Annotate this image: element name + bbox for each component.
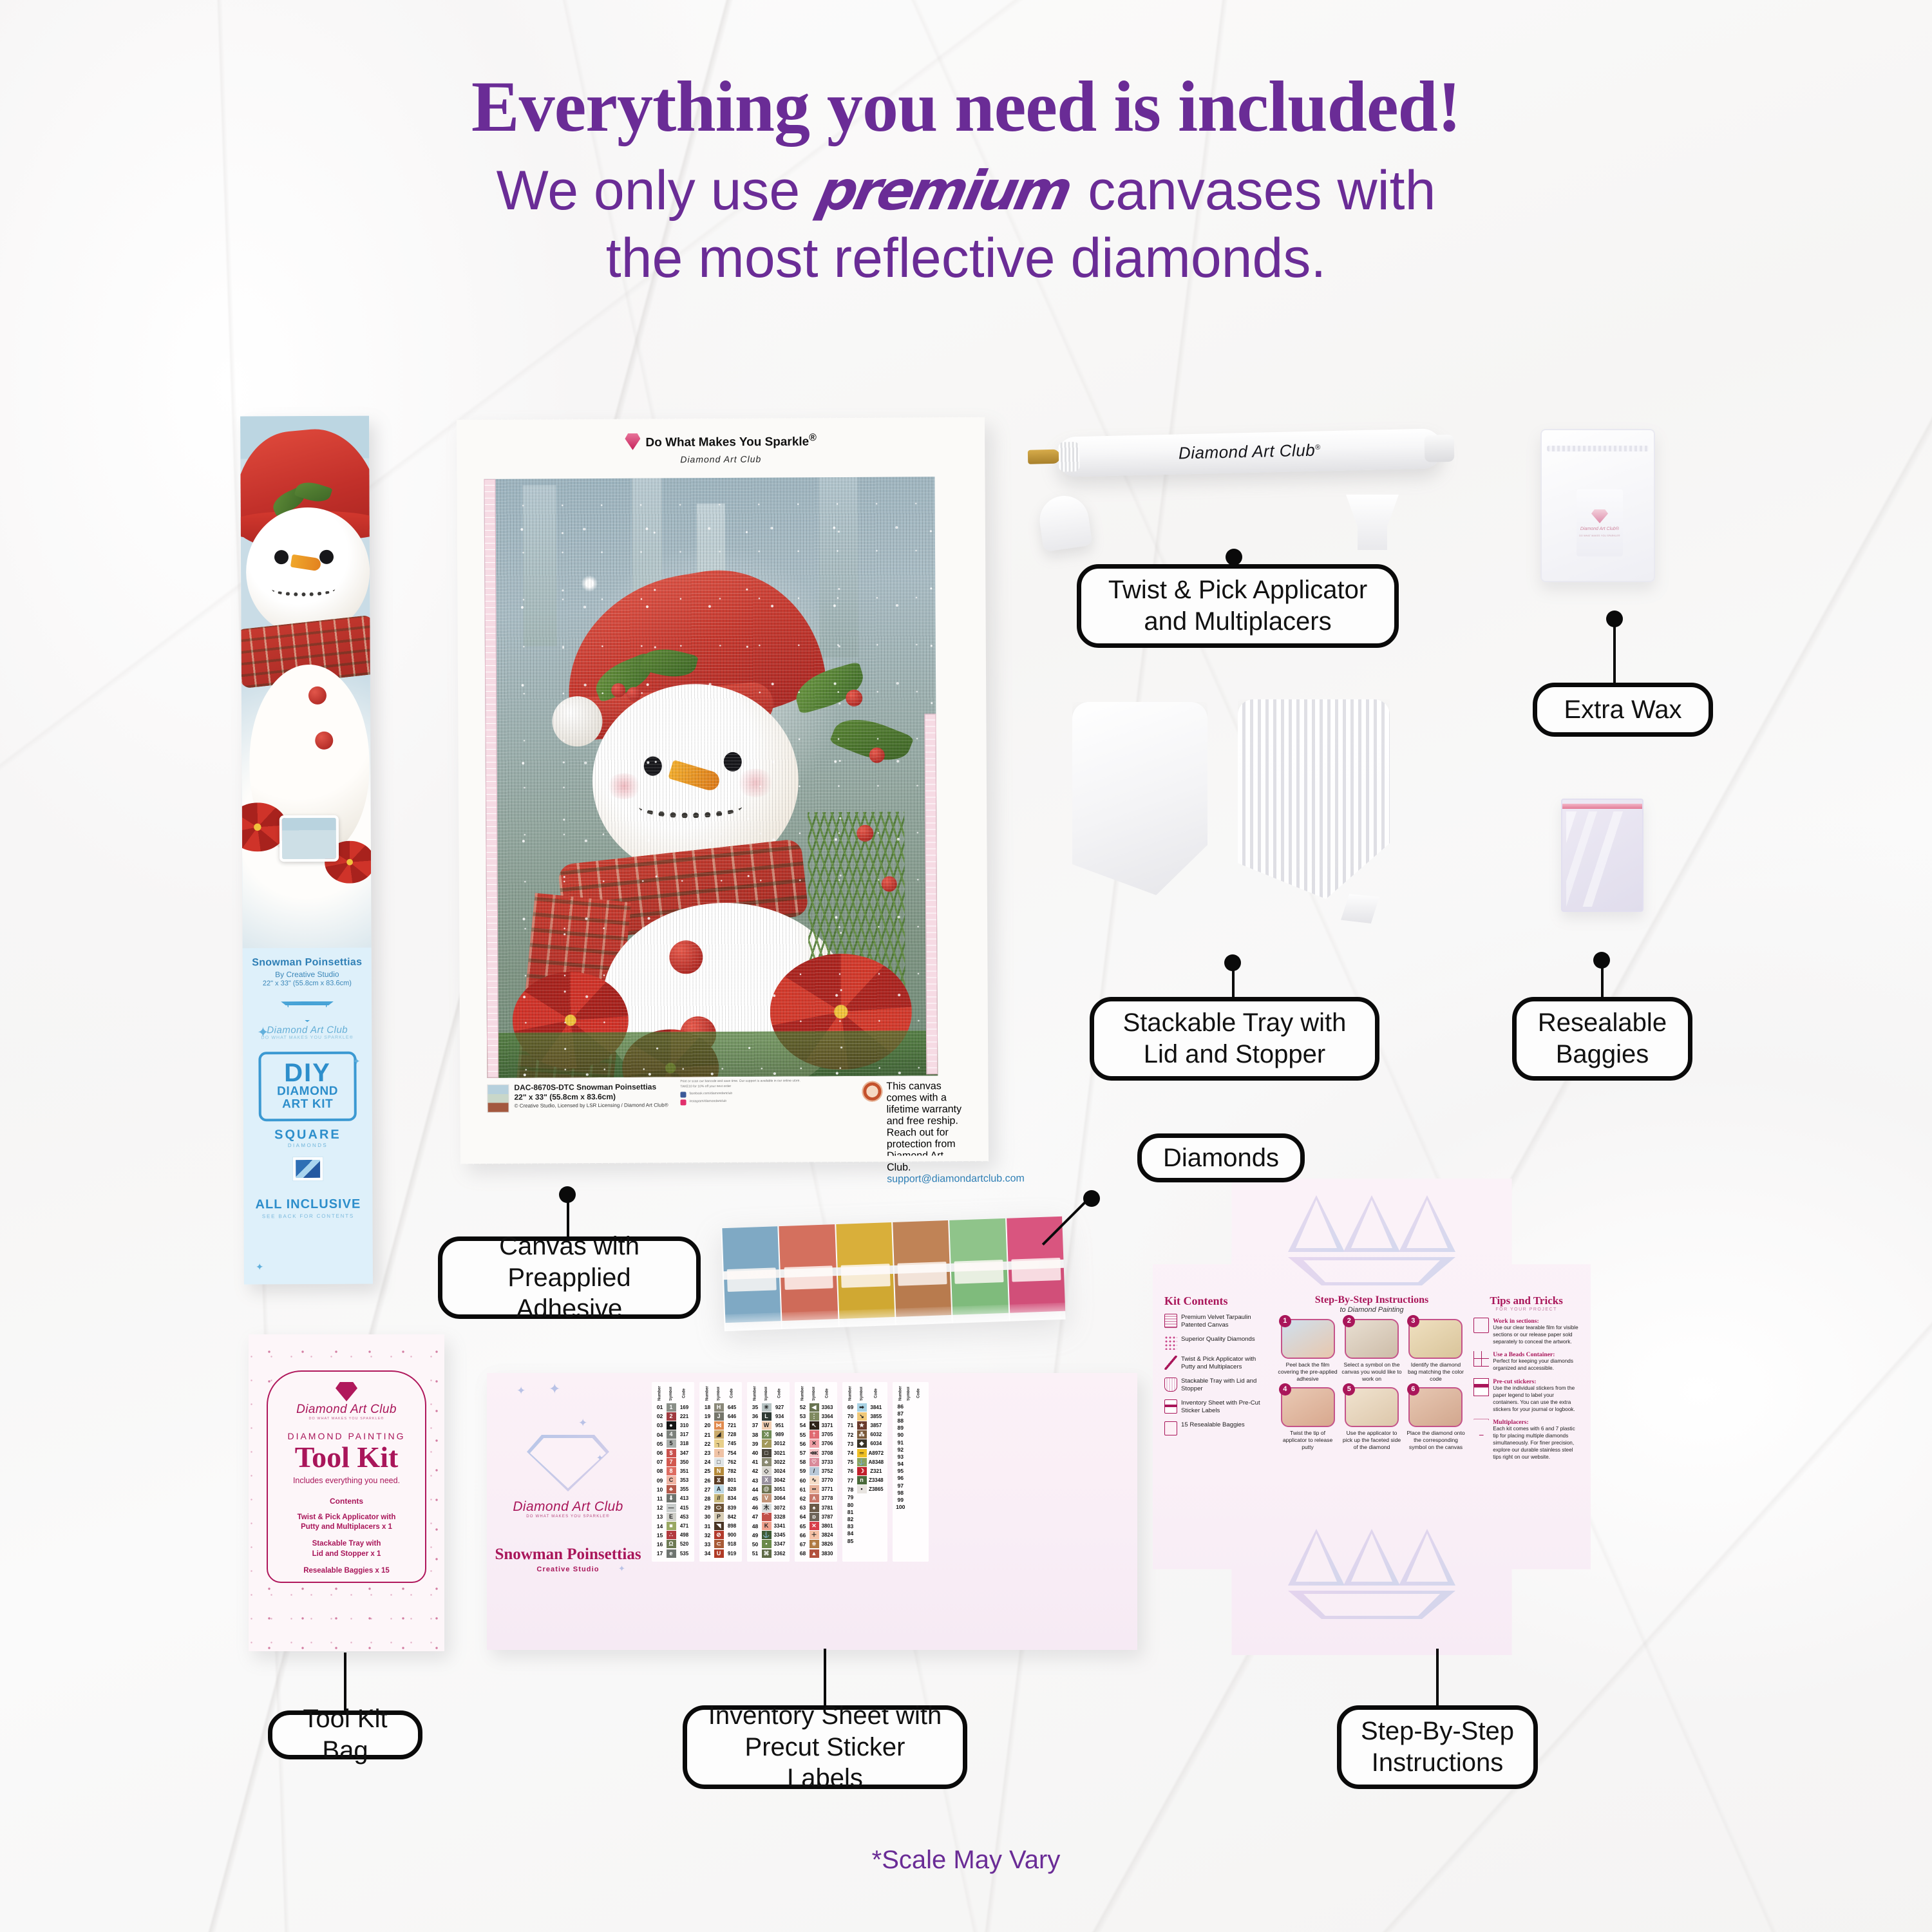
inventory-number: 67: [797, 1540, 808, 1549]
inventory-row: 39✓3012: [750, 1439, 787, 1448]
inventory-row: 31◥898: [702, 1521, 739, 1530]
inventory-number: 60: [797, 1476, 808, 1485]
callout-stackable-tray[interactable]: Stackable Tray with Lid and Stopper: [1090, 997, 1379, 1081]
inventory-col-header: Number: [702, 1385, 713, 1403]
inventory-code: 3826: [820, 1540, 835, 1549]
inventory-symbol: 4: [665, 1430, 677, 1439]
inventory-row: 84: [845, 1530, 885, 1537]
inventory-code: 645: [724, 1403, 739, 1412]
inventory-number: 20: [702, 1421, 713, 1430]
inventory-row: 81: [845, 1508, 885, 1515]
inventory-code: 898: [724, 1521, 739, 1530]
inventory-code: Z3348: [867, 1476, 885, 1485]
inventory-code: [911, 1446, 926, 1453]
baggie-label: [784, 1265, 833, 1290]
multiplacer-icon: [1473, 1419, 1489, 1435]
inventory-symbol: [856, 1501, 867, 1508]
inventory-code: 355: [677, 1485, 692, 1494]
inventory-symbol: ┐: [713, 1439, 724, 1448]
inventory-title: Snowman Poinsettias: [487, 1546, 649, 1564]
callout-dot: [1593, 952, 1610, 969]
inventory-symbol: Ω: [665, 1540, 677, 1549]
inventory-code: 498: [677, 1531, 692, 1540]
inventory-symbol: ✕: [808, 1439, 820, 1448]
sparkle-icon: ✦: [578, 1417, 587, 1430]
see-back-label: SEE BACK FOR CONTENTS: [243, 1213, 372, 1219]
inventory-number: 76: [845, 1466, 856, 1475]
canvas-size: 22" x 33" (55.8cm x 83.6cm): [514, 1092, 668, 1101]
inventory-code: [911, 1417, 926, 1424]
sparkle-icon: ✦: [353, 1056, 361, 1067]
inventory-symbol: [906, 1482, 911, 1489]
inventory-symbol: [856, 1523, 867, 1530]
inventory-number: 61: [797, 1485, 808, 1494]
wax-brand: Diamond Art Club®: [1580, 527, 1619, 531]
instruction-step: 4Twist the tip of applicator to release …: [1278, 1387, 1338, 1452]
baggie-icon: [1164, 1421, 1177, 1435]
inventory-row: 70↘3855: [845, 1412, 885, 1421]
inventory-symbol: ✕: [808, 1521, 820, 1530]
triangle-icon: [1288, 1195, 1345, 1252]
diamond-fill: [779, 1224, 837, 1269]
inventory-row: 21◢728: [702, 1430, 739, 1439]
inventory-symbol: [906, 1461, 911, 1468]
inventory-row: 68▲3830: [797, 1549, 835, 1558]
inventory-symbol: ⋘: [808, 1448, 820, 1457]
canvas-brand: Diamond Art Club: [457, 453, 985, 466]
triangle-icon: [1343, 1195, 1400, 1252]
instruction-step: 5Use the applicator to pick up the facet…: [1341, 1387, 1401, 1452]
inventory-number: 62: [797, 1494, 808, 1503]
inventory-symbol: V: [761, 1494, 772, 1503]
inventory-row: 20⋈721: [702, 1421, 739, 1430]
tip-title: Pre-cut stickers:: [1493, 1378, 1579, 1385]
inventory-number: 33: [702, 1540, 713, 1549]
inventory-symbol: 1: [665, 1403, 677, 1412]
inventory-code: 900: [724, 1531, 739, 1540]
inventory-number: 22: [702, 1439, 713, 1448]
facebook-icon: [680, 1092, 686, 1097]
canvas-footer: DAC-8670S-DTC Snowman Poinsettias 22" x …: [487, 1081, 963, 1126]
inventory-code: 918: [724, 1540, 739, 1549]
kit-content-text: Twist & Pick Applicator with Putty and M…: [1181, 1356, 1270, 1372]
inventory-row: 40□3021: [750, 1448, 787, 1457]
diamond-fill: [1007, 1217, 1064, 1262]
inventory-row: 86: [895, 1403, 926, 1410]
inventory-code: 3705: [820, 1430, 835, 1439]
tip-title: Work in sections:: [1493, 1318, 1579, 1325]
callout-resealable-baggies[interactable]: Resealable Baggies: [1512, 997, 1692, 1081]
inventory-row: 36L934: [750, 1412, 787, 1421]
inventory-symbol: ⧺: [808, 1540, 820, 1549]
step-caption: Place the diamond onto the corresponding…: [1406, 1430, 1466, 1452]
inventory-number: 04: [654, 1430, 665, 1439]
inventory-number: 35: [750, 1403, 761, 1412]
step-number-badge: 3: [1407, 1315, 1419, 1327]
inventory-number: 23: [702, 1448, 713, 1457]
inventory-brand: Diamond Art Club: [487, 1499, 649, 1515]
toolkit-brand: Diamond Art Club: [268, 1403, 425, 1417]
inventory-number: 38: [750, 1430, 761, 1439]
inventory-code: 3022: [772, 1457, 787, 1466]
toolkit-title: Tool Kit: [268, 1443, 425, 1472]
callout-canvas[interactable]: Canvas with Preapplied Adhesive: [438, 1236, 701, 1319]
inventory-number: 10: [654, 1485, 665, 1494]
inventory-row: 83: [845, 1523, 885, 1530]
callout-dot: [1226, 549, 1242, 565]
canvas-icon: [1164, 1314, 1177, 1328]
inventory-number: 16: [654, 1540, 665, 1549]
inventory-symbol: ɒ: [808, 1512, 820, 1521]
inventory-number: 91: [895, 1439, 906, 1446]
inventory-code: 828: [724, 1485, 739, 1494]
inventory-row: 22┐745: [702, 1439, 739, 1448]
inventory-row: 62∧3778: [797, 1494, 835, 1503]
inventory-symbol: A: [713, 1485, 724, 1494]
inventory-row: 48K3341: [750, 1521, 787, 1530]
tip-body: Each kit comes with 6 and 7 plastic tip …: [1493, 1426, 1579, 1461]
inventory-row: 96: [895, 1475, 926, 1482]
inventory-col-header: Number: [654, 1385, 665, 1403]
inventory-row: 100: [895, 1504, 926, 1511]
inventory-number: 89: [895, 1425, 906, 1432]
inventory-row: 59/3752: [797, 1466, 835, 1475]
inventory-code: 762: [724, 1457, 739, 1466]
inventory-number: 100: [895, 1504, 906, 1511]
inventory-row: 34U919: [702, 1549, 739, 1558]
inventory-code: 3328: [772, 1512, 787, 1521]
callout-instructions[interactable]: Step-By-Step Instructions: [1337, 1705, 1538, 1789]
inventory-code: A8972: [867, 1448, 885, 1457]
inventory-row: 52◀3363: [797, 1403, 835, 1412]
inventory-number: 11: [654, 1494, 665, 1503]
inventory-row: 17e535: [654, 1549, 692, 1558]
inventory-number: 88: [895, 1417, 906, 1424]
inventory-row: 74═A8972: [845, 1448, 885, 1457]
instagram-icon: [681, 1099, 687, 1105]
applicator-collar: [1059, 442, 1080, 472]
inventory-number: 57: [797, 1448, 808, 1457]
callout-diamonds[interactable]: Diamonds: [1137, 1133, 1305, 1182]
inventory-symbol: e: [665, 1549, 677, 1558]
callout-leader: [1436, 1649, 1439, 1707]
inventory-code: 310: [677, 1421, 692, 1430]
box-product-title: Snowman Poinsettias: [243, 957, 372, 969]
inventory-number: 99: [895, 1496, 906, 1503]
baggie-label: [1011, 1258, 1061, 1282]
step-number-badge: 6: [1407, 1383, 1419, 1396]
inventory-code: 3841: [867, 1403, 885, 1412]
inventory-row: 99: [895, 1496, 926, 1503]
inventory-column: NumberSymbolCode35✳92736L93437W95138⤨989…: [747, 1382, 790, 1562]
inventory-code: 951: [772, 1421, 787, 1430]
inventory-symbol: ↘: [856, 1412, 867, 1421]
inventory-symbol: E: [665, 1512, 677, 1521]
inventory-code: 3778: [820, 1494, 835, 1503]
inventory-symbol: ♣: [761, 1457, 772, 1466]
inventory-code: 754: [724, 1448, 739, 1457]
toolkit-subtitle: Includes everything you need.: [268, 1476, 425, 1485]
callout-inventory-sheet[interactable]: Inventory Sheet with Precut Sticker Labe…: [683, 1705, 967, 1789]
box-artist: By Creative Studio: [243, 970, 372, 980]
inventory-symbol: ◥: [713, 1521, 724, 1530]
snowman-button: [315, 732, 333, 750]
inventory-code: 353: [677, 1476, 692, 1485]
inventory-row: 42◇3024: [750, 1466, 787, 1475]
header-block: Everything you need is included! We only…: [0, 71, 1932, 292]
tip-row: Work in sections: Use our clear tearable…: [1473, 1318, 1579, 1345]
inventory-row: 75⚓A8348: [845, 1457, 885, 1466]
inventory-code: 350: [677, 1457, 692, 1466]
canvas-footer-thumbnail: [487, 1084, 509, 1113]
inventory-col-header: Symbol: [808, 1385, 820, 1403]
step-caption: Peel back the film covering the pre-appl…: [1278, 1361, 1338, 1383]
inventory-column: NumberSymbolCode52◀336353⋮336454↖337155†…: [795, 1382, 837, 1562]
inventory-number: 97: [895, 1482, 906, 1489]
inventory-row: 79: [845, 1494, 885, 1501]
inventory-symbol: ⬭: [713, 1503, 724, 1512]
inventory-code: 745: [724, 1439, 739, 1448]
inventory-row: 23↑754: [702, 1448, 739, 1457]
applicator-brand: Diamond Art Club: [1179, 440, 1316, 463]
inventory-number: 51: [750, 1549, 761, 1558]
inventory-symbol: ⌘: [761, 1549, 772, 1558]
inventory-number: 59: [797, 1466, 808, 1475]
inventory-sheet: ✦ ✦ ✦ Diamond Art Club DO WHAT MAKES YOU…: [487, 1373, 1137, 1650]
baggie-plastic-sheen: [1566, 811, 1638, 907]
inventory-row: 49⚓3345: [750, 1531, 787, 1540]
kit-content-text: Inventory Sheet with Pre-Cut Sticker Lab…: [1181, 1399, 1270, 1416]
inventory-code: 3347: [772, 1540, 787, 1549]
inventory-row: 25N782: [702, 1466, 739, 1475]
inventory-row: 044317: [654, 1430, 692, 1439]
sections-icon: [1473, 1318, 1489, 1333]
inventory-code: [867, 1530, 885, 1537]
inventory-code: 347: [677, 1448, 692, 1457]
inventory-code: 834: [724, 1494, 739, 1503]
inventory-number: 96: [895, 1475, 906, 1482]
tip-body: Perfect for keeping your diamonds organi…: [1493, 1358, 1579, 1372]
canvas-sku: DAC-8670S-DTC Snowman Poinsettias: [514, 1082, 668, 1092]
kit-content-row: Premium Velvet Tarpaulin Patented Canvas: [1164, 1314, 1270, 1330]
resealable-baggie: [1561, 799, 1643, 912]
callout-dot: [1083, 1190, 1100, 1207]
diamond-watermark-icon: [527, 1435, 609, 1492]
all-inclusive-label: ALL INCLUSIVE: [243, 1197, 372, 1212]
inventory-symbol: C: [665, 1476, 677, 1485]
inventory-row: 61••3771: [797, 1485, 835, 1494]
toolkit-content-item: Resealable Baggies x 15: [268, 1566, 425, 1576]
steps-column: Step-By-Step Instructions to Diamond Pai…: [1278, 1294, 1466, 1461]
inventory-row: 41♣3022: [750, 1457, 787, 1466]
inventory-symbol: H: [713, 1403, 724, 1412]
inventory-row: 33⊂918: [702, 1540, 739, 1549]
toolkit-contents-heading: Contents: [268, 1497, 425, 1506]
diamond-shape-sub: DIAMONDS: [243, 1142, 372, 1148]
inventory-number: 94: [895, 1461, 906, 1468]
inventory-code: 3072: [772, 1503, 787, 1512]
inventory-row: 55†3705: [797, 1430, 835, 1439]
inventory-symbol: ◇: [761, 1466, 772, 1475]
inventory-number: 54: [797, 1421, 808, 1430]
inventory-code: 728: [724, 1430, 739, 1439]
inventory-symbol: ♡: [808, 1457, 820, 1466]
diamond-logo-icon: [1591, 509, 1608, 524]
inventory-row: 76☽Z321: [845, 1466, 885, 1475]
inventory-code: 989: [772, 1430, 787, 1439]
canvas-footer-promo: TAKE10 for 10% off your next order: [680, 1084, 841, 1090]
triangle-icon: [1343, 1529, 1400, 1586]
step-caption: Identify the diamond bag matching the co…: [1406, 1361, 1466, 1383]
toolkit-brand-tagline: DO WHAT MAKES YOU SPARKLE®: [268, 1417, 425, 1421]
sparkle-icon: ✦: [596, 1453, 603, 1463]
inventory-number: 79: [845, 1494, 856, 1501]
inventory-row: 57⋘3708: [797, 1448, 835, 1457]
inventory-row: 28//834: [702, 1494, 739, 1503]
inventory-symbol: □: [713, 1457, 724, 1466]
inventory-code: [911, 1403, 926, 1410]
inventory-row: 13E453: [654, 1512, 692, 1521]
inventory-number: 03: [654, 1421, 665, 1430]
inventory-code: 3042: [772, 1476, 787, 1485]
inventory-symbol: ♠: [808, 1503, 820, 1512]
inventory-number: 02: [654, 1412, 665, 1421]
inventory-code: 839: [724, 1503, 739, 1512]
inventory-col-header: Number: [895, 1385, 906, 1403]
diamond-fill: [836, 1222, 893, 1267]
inventory-symbol: [906, 1446, 911, 1453]
inventory-row: 32⊘900: [702, 1531, 739, 1540]
inventory-number: 36: [750, 1412, 761, 1421]
inventory-row: 47⏠3328: [750, 1512, 787, 1521]
inventory-row: 35✳927: [750, 1403, 787, 1412]
inventory-row: 90: [895, 1432, 926, 1439]
inventory-symbol: ⚓: [856, 1457, 867, 1466]
inventory-code: 3064: [772, 1494, 787, 1503]
inventory-symbol: ↖: [808, 1421, 820, 1430]
inventory-number: 56: [797, 1439, 808, 1448]
inventory-symbol: ◢: [713, 1430, 724, 1439]
inventory-symbol: U: [713, 1549, 724, 1558]
tips-heading: Tips and Tricks: [1473, 1294, 1579, 1307]
inventory-column: NumberSymbolCode18H64519J64620⋈72121◢728…: [699, 1382, 742, 1562]
tips-column: Tips and Tricks FOR YOUR PROJECT Work in…: [1473, 1294, 1579, 1461]
steps-heading: Step-By-Step Instructions: [1278, 1294, 1466, 1306]
inventory-code: [911, 1461, 926, 1468]
inventory-number: 05: [654, 1439, 665, 1448]
canvas-legend-strip-right: [924, 714, 938, 1074]
steps-header: Step-By-Step Instructions to Diamond Pai…: [1278, 1294, 1466, 1314]
inventory-symbol: X: [761, 1476, 772, 1485]
subtitle-premium-script: premium: [808, 158, 1079, 223]
inventory-left-panel: ✦ ✦ ✦ Diamond Art Club DO WHAT MAKES YOU…: [487, 1373, 649, 1650]
inventory-number: 92: [895, 1446, 906, 1453]
step-number-badge: 5: [1343, 1383, 1355, 1396]
inventory-symbol: ☽: [856, 1466, 867, 1475]
inventory-number: 55: [797, 1430, 808, 1439]
inventory-code: 3733: [820, 1457, 835, 1466]
inventory-symbol: [856, 1515, 867, 1522]
inventory-code: [911, 1475, 926, 1482]
inventory-symbol: ♣: [665, 1485, 677, 1494]
inventory-number: 66: [797, 1531, 808, 1540]
inventory-row: 95: [895, 1468, 926, 1475]
inventory-symbol: □: [761, 1448, 772, 1457]
diamond-logo-icon: [625, 433, 640, 450]
baggie-zipper: [1562, 804, 1642, 809]
inventory-col-header: Code: [867, 1385, 885, 1403]
tips-subheading: FOR YOUR PROJECT: [1473, 1307, 1579, 1312]
inventory-row: 38⤨989: [750, 1430, 787, 1439]
inventory-code: 3051: [772, 1485, 787, 1494]
inventory-number: 65: [797, 1521, 808, 1530]
tip-row: Multiplacers: Each kit comes with 6 and …: [1473, 1419, 1579, 1461]
callout-leader: [1613, 618, 1616, 684]
inventory-code: 413: [677, 1494, 692, 1503]
inventory-symbol: N: [713, 1466, 724, 1475]
inventory-number: 84: [845, 1530, 856, 1537]
diamond-fill: [722, 1226, 779, 1271]
inventory-row: 055318: [654, 1439, 692, 1448]
inventory-row: 87: [895, 1410, 926, 1417]
inventory-number: 48: [750, 1521, 761, 1530]
callout-tool-kit-bag[interactable]: Tool Kit Bag: [268, 1710, 422, 1759]
canvas-warranty: This canvas comes with a lifetime warran…: [886, 1081, 964, 1174]
inventory-code: 221: [677, 1412, 692, 1421]
callout-extra-wax[interactable]: Extra Wax: [1533, 683, 1713, 737]
inventory-code: [867, 1501, 885, 1508]
inventory-code: 6034: [867, 1439, 885, 1448]
inventory-symbol: ⤨: [761, 1430, 772, 1439]
step-caption: Twist the tip of applicator to release p…: [1278, 1430, 1338, 1452]
inventory-symbol: [906, 1468, 911, 1475]
inventory-row: 64ɒ3787: [797, 1512, 835, 1521]
inventory-symbol: 8: [665, 1466, 677, 1475]
inventory-row: 26⧖801: [702, 1476, 739, 1485]
inventory-code: 782: [724, 1466, 739, 1475]
inventory-symbol: [906, 1403, 911, 1410]
triangle-icon: [1288, 1529, 1345, 1586]
inventory-number: 69: [845, 1403, 856, 1412]
inventory-number: 12: [654, 1503, 665, 1512]
inventory-row: 51⌘3362: [750, 1549, 787, 1558]
subtitle-part-a: We only use: [497, 160, 800, 222]
callout-dot: [1224, 954, 1241, 971]
snowman-button: [308, 687, 327, 705]
inventory-symbol: [856, 1508, 867, 1515]
inventory-number: 95: [895, 1468, 906, 1475]
inventory-code: 3364: [820, 1412, 835, 1421]
inventory-row: 72⁂6032: [845, 1430, 885, 1439]
inventory-row: 58♡3733: [797, 1457, 835, 1466]
inventory-code: 3021: [772, 1448, 787, 1457]
inventory-symbol: ⁂: [856, 1430, 867, 1439]
inventory-number: 13: [654, 1512, 665, 1521]
inventory-row: 69➡3841: [845, 1403, 885, 1412]
inventory-col-header: Code: [724, 1385, 739, 1403]
inventory-row: 022221: [654, 1412, 692, 1421]
inventory-number: 24: [702, 1457, 713, 1466]
inventory-symbol: ⋈: [713, 1421, 724, 1430]
callout-leader: [824, 1649, 826, 1707]
inventory-row: 11⬇413: [654, 1494, 692, 1503]
inventory-symbol: ⏠: [761, 1512, 772, 1521]
inventory-table: NumberSymbolCode01116902222103●310044317…: [652, 1382, 929, 1562]
inventory-number: 63: [797, 1503, 808, 1512]
inventory-symbol: n: [856, 1476, 867, 1485]
inventory-code: 535: [677, 1549, 692, 1558]
callout-applicator[interactable]: Twist & Pick Applicator and Multiplacers: [1077, 564, 1399, 648]
